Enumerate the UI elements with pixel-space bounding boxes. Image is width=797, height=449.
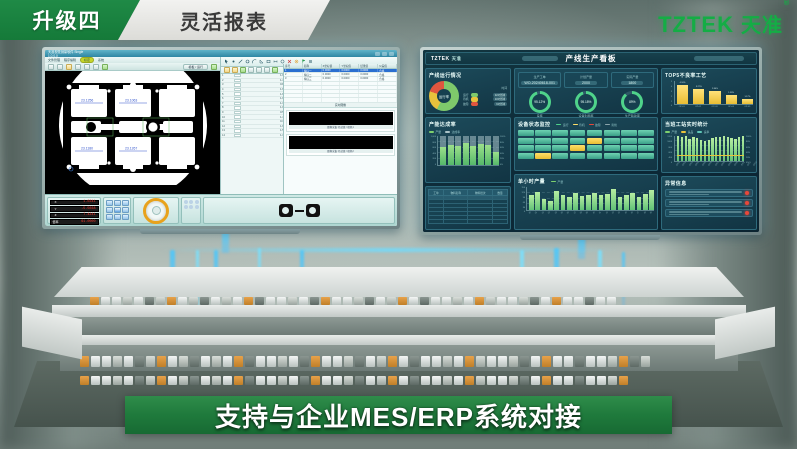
- brand-logo-cn: 天准 ®: [741, 9, 783, 38]
- factory-machine: [596, 297, 605, 305]
- legend-label: 产量: [558, 180, 564, 184]
- cursor-icon[interactable]: [48, 64, 54, 70]
- gauge-value: 95.18%: [575, 91, 597, 113]
- station-legend-item: 良品: [681, 130, 693, 134]
- chart-bar-stack: [485, 136, 491, 165]
- factory-machine: [222, 297, 231, 305]
- device-cell[interactable]: [518, 153, 534, 159]
- factory-machine: [498, 356, 507, 367]
- axis-tick: 400: [664, 157, 672, 159]
- device-cell[interactable]: [518, 145, 534, 151]
- pointer-icon[interactable]: [224, 59, 229, 64]
- jog-wheel-box[interactable]: [133, 197, 179, 224]
- viewer-mode-button[interactable]: 模板 / 运行: [183, 64, 208, 70]
- table-cell: [340, 86, 359, 89]
- table-cell: 0.0000: [322, 73, 341, 76]
- axis-tick: 3: [664, 91, 672, 93]
- factory-machine: [597, 356, 606, 367]
- factory-machine: [553, 356, 562, 367]
- factory-machine: [322, 356, 331, 367]
- alarm-text: [669, 191, 742, 195]
- coordinate-row: 倍率61.0000: [50, 219, 99, 225]
- factory-machine: [146, 376, 155, 385]
- dashboard-body: 产线运行情况 运行率 时间 运行320分钟待机100分钟故障60分钟: [425, 65, 757, 230]
- device-cell[interactable]: [604, 130, 620, 136]
- factory-machine: [464, 297, 473, 305]
- chart-bar: [592, 193, 597, 210]
- jog-buttons[interactable]: [106, 200, 129, 220]
- axis-tick: 80%: [746, 141, 754, 143]
- chart-bar-stack: [455, 136, 461, 165]
- device-cell[interactable]: [587, 153, 603, 159]
- table-row[interactable]: [429, 220, 508, 224]
- factory-machine: [156, 297, 165, 305]
- chart-bar-segment-output: [493, 152, 499, 165]
- axis-label: ST13: [754, 161, 759, 166]
- device-cell[interactable]: [638, 153, 654, 159]
- jog-wheel-center[interactable]: [152, 206, 161, 215]
- jog-down-right[interactable]: [122, 214, 129, 220]
- alarm-text: [669, 211, 742, 215]
- device-cell[interactable]: [552, 130, 568, 136]
- table-cell: [429, 220, 444, 224]
- device-cell[interactable]: [518, 138, 534, 144]
- factory-machine: [564, 376, 573, 385]
- factory-machine: [311, 376, 320, 385]
- factory-machine: [586, 376, 595, 385]
- device-cell[interactable]: [604, 153, 620, 159]
- device-cell[interactable]: [570, 153, 586, 159]
- axis-tick: 0: [517, 211, 525, 213]
- gauge-value: 89%: [621, 91, 643, 113]
- gauge-cell: 89%生产稼动率: [611, 91, 654, 119]
- step-icon[interactable]: [264, 67, 270, 73]
- new-icon[interactable]: [224, 67, 230, 73]
- speed-5[interactable]: [189, 205, 193, 209]
- axis-tick: 40%: [746, 152, 754, 154]
- factory-machine: [310, 297, 319, 305]
- card-capacity: 产能达成率 产量达成率 1,0008006004002000 100%80%60…: [425, 117, 511, 183]
- header-ribbon: 升级四 灵活报表: [0, 0, 330, 40]
- factory-machine: [256, 376, 265, 385]
- chart-bar: [630, 193, 635, 210]
- device-cell[interactable]: [535, 138, 551, 144]
- factory-machine: [542, 376, 551, 385]
- menu-item-3[interactable]: 系统: [98, 58, 104, 62]
- window-controls[interactable]: [375, 52, 394, 56]
- menu-item-calibration-highlighted[interactable]: 标定: [80, 57, 94, 63]
- factory-machine: [167, 297, 176, 305]
- legend-swatch: [551, 181, 556, 183]
- fit-icon[interactable]: [84, 64, 90, 70]
- legend-label: 达成率: [452, 130, 460, 134]
- factory-machine: [574, 297, 583, 305]
- chart-bar: 1.93%: [726, 95, 737, 104]
- folder-open-icon[interactable]: [66, 64, 72, 70]
- settings-icon[interactable]: [245, 59, 250, 64]
- play-icon[interactable]: [248, 67, 254, 73]
- factory-roof: [54, 267, 744, 297]
- preview-card-0[interactable]: 图像采集:已就绪 / 相机1: [286, 110, 395, 132]
- feature-index: 6: [222, 97, 232, 100]
- arc-icon[interactable]: [252, 59, 257, 64]
- speed-1[interactable]: [184, 200, 188, 204]
- device-cell[interactable]: [535, 145, 551, 151]
- factory-machine: [497, 297, 506, 305]
- svg-text:23.1180: 23.1180: [81, 147, 93, 151]
- factory-machine: [575, 356, 584, 367]
- app-titlebar: 天准视觉测量软件 Single 1.0.0.0: [45, 50, 397, 57]
- monitor-stand-left: [140, 229, 300, 234]
- device-cell[interactable]: [621, 153, 637, 159]
- dashboard-header: TZTEK天准 产线生产看板: [425, 52, 757, 65]
- top5-xlabels: OP-01OP-02OP-03OP-04OP-05: [674, 106, 753, 108]
- factory-mid-gap: [70, 317, 728, 335]
- device-cell[interactable]: [587, 130, 603, 136]
- axis-label: OP-04: [725, 106, 736, 108]
- factory-machine: [465, 376, 474, 385]
- axis-tick: 2: [664, 96, 672, 98]
- device-cell[interactable]: [604, 145, 620, 151]
- factory-machine: [91, 356, 100, 367]
- factory-machine: [90, 297, 99, 305]
- device-cell[interactable]: [638, 145, 654, 151]
- device-cell[interactable]: [552, 153, 568, 159]
- factory-machine: [178, 297, 187, 305]
- device-cell[interactable]: [638, 138, 654, 144]
- feature-index: 8: [222, 106, 232, 109]
- chart-bar-segment-output: [478, 144, 484, 165]
- speed-6[interactable]: [195, 205, 199, 209]
- card-hourly-title: 单小时产量: [518, 178, 545, 185]
- factory-machine: [113, 376, 122, 385]
- chart-bar: [730, 138, 732, 161]
- factory-machine: [135, 356, 144, 367]
- top5-chart: 543210 4.10%3.27%2.86%1.93%1.17% OP-01OP…: [665, 81, 753, 108]
- factory-machine: [344, 356, 353, 367]
- feature-thumb: [234, 83, 241, 86]
- table-cell: [322, 86, 341, 89]
- table-cell: 特征二: [303, 73, 322, 76]
- hourly-xlabels: 0001020304050607080910111213141516171819: [526, 212, 654, 214]
- chart-bar-segment-rate: [485, 136, 491, 145]
- device-cell[interactable]: [570, 145, 586, 151]
- factory-machine: [531, 356, 540, 367]
- hourly-legend: 产量: [551, 180, 563, 184]
- alarm-text-line: [669, 204, 709, 206]
- factory-machine: [553, 376, 562, 385]
- table-cell: [378, 90, 397, 93]
- axis-label: OP-05: [742, 106, 753, 108]
- chart-bar: 2.86%: [709, 91, 720, 104]
- save-icon[interactable]: [75, 64, 81, 70]
- inspection-software-monitor: 天准视觉测量软件 Single 1.0.0.0 文件管理 程序编辑 标定 系统: [42, 47, 400, 229]
- device-cell[interactable]: [604, 138, 620, 144]
- feature-thumb: [234, 134, 241, 137]
- axis-label: ST04: [696, 161, 701, 166]
- axis-tick: 1: [664, 101, 672, 103]
- chart-bar: [586, 195, 591, 210]
- table-cell: [322, 98, 341, 101]
- factory-machine: [289, 356, 298, 367]
- close-icon[interactable]: [389, 52, 394, 56]
- alarm-list[interactable]: [665, 189, 753, 217]
- factory-machine: [552, 297, 561, 305]
- chart-bar: [704, 141, 706, 161]
- save-program-icon[interactable]: [240, 67, 246, 73]
- monitor-display-left: 天准视觉测量软件 Single 1.0.0.0 文件管理 程序编辑 标定 系统: [45, 50, 397, 226]
- factory-machine: [520, 376, 529, 385]
- table-cell: 3: [284, 77, 303, 80]
- chart-bar: [624, 195, 629, 210]
- feature-index: 12: [222, 125, 232, 128]
- factory-machine: [354, 297, 363, 305]
- device-legend-item: 待机: [573, 123, 585, 127]
- dashboard-logo-cn: 天准: [452, 56, 462, 61]
- factory-machine: [420, 297, 429, 305]
- factory-machine: [630, 356, 639, 367]
- production-dashboard-monitor: TZTEK天准 产线生产看板 产线运行情况 运行率: [420, 47, 762, 235]
- device-cell[interactable]: [621, 138, 637, 144]
- chart-bar-segment-output: [448, 145, 454, 165]
- device-cell[interactable]: [587, 145, 603, 151]
- factory-machine: [519, 297, 528, 305]
- device-cell[interactable]: [570, 130, 586, 136]
- table-cell: 2: [284, 73, 303, 76]
- device-cell[interactable]: [621, 145, 637, 151]
- factory-upper-deck: [52, 305, 746, 317]
- hourly-legend-item: 产量: [551, 180, 563, 184]
- chart-rate-line: [677, 155, 744, 156]
- preview-card-1[interactable]: 图像采集:已就绪 / 相机2: [286, 134, 395, 156]
- factory-machine: [365, 297, 374, 305]
- chart-bar: [554, 191, 559, 210]
- factory-machine: [157, 356, 166, 367]
- list-item[interactable]: [665, 199, 753, 207]
- capacity-legend: 产量达成率: [429, 130, 507, 134]
- svg-text:23.1256: 23.1256: [81, 99, 93, 103]
- factory-machine: [168, 356, 177, 367]
- jog-down[interactable]: [114, 214, 121, 220]
- factory-machine: [432, 376, 441, 385]
- chart-bar: [742, 136, 744, 161]
- factory-machine: [278, 376, 287, 385]
- factory-machine: [288, 297, 297, 305]
- device-grid-wrap: [518, 130, 654, 159]
- factory-machine: [442, 297, 451, 305]
- factory-machine: [113, 356, 122, 367]
- coordinate-value: -5.5038: [61, 207, 98, 211]
- jog-down-left[interactable]: [106, 214, 113, 220]
- factory-machine: [564, 356, 573, 367]
- angle-icon[interactable]: [259, 59, 264, 64]
- motion-control-bar: X1.0241Y-5.5038Z7.4241倍率61.0000: [45, 194, 397, 226]
- feature-thumb: [234, 111, 241, 114]
- kpi-work-order: 生产工单 WO-20240618-001: [518, 72, 561, 88]
- camera-icon[interactable]: [211, 64, 217, 70]
- order-table-body[interactable]: [429, 196, 508, 224]
- stop-icon[interactable]: [256, 67, 262, 73]
- zoom-icon[interactable]: [57, 64, 63, 70]
- axis-tick: 30: [517, 207, 525, 209]
- feature-thumb: [234, 129, 241, 132]
- maximize-icon[interactable]: [382, 52, 387, 56]
- list-item[interactable]: [665, 209, 753, 217]
- jog-wheel[interactable]: [143, 198, 169, 224]
- device-cell[interactable]: [535, 153, 551, 159]
- axis-tick: 800: [428, 142, 436, 144]
- table-cell: [359, 98, 378, 101]
- factory-machine: [189, 297, 198, 305]
- axis-tick: 90: [517, 197, 525, 199]
- results-grid-body[interactable]: 1特征一0.00000.00000.0000合格2特征二0.00000.0000…: [284, 69, 397, 103]
- rect-icon[interactable]: [266, 59, 271, 64]
- device-grid[interactable]: [518, 130, 654, 159]
- factory-machine: [101, 297, 110, 305]
- legend-swatch: [445, 131, 450, 133]
- jog-up-left[interactable]: [106, 200, 113, 206]
- speed-pad[interactable]: [181, 197, 201, 224]
- factory-machine: [597, 376, 606, 385]
- factory-machine: [343, 297, 352, 305]
- factory-machine: [201, 376, 210, 385]
- jog-home[interactable]: [114, 207, 121, 213]
- axis-tick: 0: [428, 164, 436, 166]
- factory-machine: [255, 297, 264, 305]
- results-grid-col-header: 公差值: [378, 64, 397, 68]
- factory-machine: [300, 376, 309, 385]
- feature-thumb: [234, 106, 241, 109]
- chart-bar-segment-output: [455, 146, 461, 165]
- factory-machine: [520, 356, 529, 367]
- gauge-ring: 95.18%: [575, 91, 597, 113]
- jog-left[interactable]: [106, 207, 113, 213]
- table-cell: [340, 82, 359, 85]
- chart-bar-stack: [440, 136, 446, 165]
- factory-machine: [388, 356, 397, 367]
- capacity-axis-y2: 100%80%60%40%20%0%: [500, 136, 508, 166]
- speed-buttons[interactable]: [184, 200, 199, 210]
- feature-thumb: [234, 115, 241, 118]
- gauge-value: 95.12%: [529, 91, 551, 113]
- axis-tick: 150: [517, 187, 525, 189]
- axis-tick: 100%: [746, 136, 754, 138]
- chart-bar-segment-rate: [493, 136, 499, 152]
- legend-label: 良率: [704, 130, 710, 134]
- chart-bar: 1.17%: [742, 99, 753, 104]
- machine-row-upper-1: [90, 297, 616, 305]
- line-status-legend: 时间 运行320分钟待机100分钟故障60分钟: [463, 86, 507, 106]
- device-cell[interactable]: [570, 138, 586, 144]
- refresh-icon[interactable]: [272, 67, 278, 73]
- preview-image-0: [289, 112, 393, 125]
- kpi-planned-value: 2000: [575, 81, 597, 85]
- factory-machine: [299, 297, 308, 305]
- axis-label: 09: [586, 210, 591, 215]
- chart-bar: [637, 197, 642, 210]
- viewer-toolbar[interactable]: 模板 / 运行: [45, 63, 220, 71]
- feature-index: 10: [222, 116, 232, 119]
- kpi-actual-label: 实际产量: [614, 75, 651, 79]
- order-table[interactable]: 工单物料名称物料批次数量: [428, 189, 508, 224]
- production-dashboard: TZTEK天准 产线生产看板 产线运行情况 运行率: [423, 50, 759, 232]
- minimize-icon[interactable]: [375, 52, 380, 56]
- device-cell[interactable]: [587, 138, 603, 144]
- card-station: 当班工站实时统计 产量良品良率 120010008006004000 100%8…: [661, 117, 757, 173]
- dashboard-logo: TZTEK天准: [431, 56, 461, 62]
- open-icon[interactable]: [232, 67, 238, 73]
- factory-machine: [146, 356, 155, 367]
- distance-icon[interactable]: [273, 59, 278, 64]
- chart-bar: [567, 197, 572, 210]
- line-icon[interactable]: [238, 59, 243, 64]
- jog-pad[interactable]: [103, 197, 131, 224]
- axis-tick: 1000: [664, 141, 672, 143]
- table-cell: [322, 82, 341, 85]
- factory-machine: [563, 297, 572, 305]
- legend-swatch: [556, 124, 561, 126]
- jog-up[interactable]: [114, 200, 121, 206]
- device-cell[interactable]: [518, 130, 534, 136]
- brand-logo: TZTEK 天准 ®: [658, 9, 783, 38]
- factory-machine: [102, 376, 111, 385]
- results-grid-col-header: X坐标值: [322, 64, 341, 68]
- table-cell: [284, 98, 303, 101]
- speed-4[interactable]: [184, 205, 188, 209]
- svg-text:23.1267: 23.1267: [125, 147, 137, 151]
- device-monitor-head: 设备状态监控 运行待机故障离线: [518, 121, 654, 128]
- factory-machine: [80, 376, 89, 385]
- card-work-order: 生产工单 WO-20240618-001 计划产量 2000 实际产量 1800: [514, 68, 658, 114]
- factory-machine: [234, 376, 243, 385]
- factory-machine: [102, 356, 111, 367]
- jog-right[interactable]: [122, 207, 129, 213]
- device-cell[interactable]: [621, 130, 637, 136]
- chart-bar-segment-output: [463, 143, 469, 165]
- device-cell[interactable]: [638, 130, 654, 136]
- coordinate-value: 61.0000: [61, 220, 98, 224]
- brand-logo-cn-text: 天准: [741, 15, 783, 37]
- factory-machine: [223, 356, 232, 367]
- factory-machine: [211, 297, 220, 305]
- axis-tick: 600: [664, 152, 672, 154]
- table-cell: [284, 94, 303, 97]
- point-icon[interactable]: [231, 59, 236, 64]
- part-preview: [203, 197, 395, 224]
- header-tag-secondary: 灵活报表: [118, 0, 330, 40]
- list-item[interactable]: [665, 189, 753, 197]
- chart-bar-segment-rate: [440, 136, 446, 147]
- legend-swatch: [573, 124, 578, 126]
- chart-bar: [677, 136, 679, 161]
- run-icon[interactable]: [102, 64, 108, 70]
- menu-item-0[interactable]: 文件管理: [48, 58, 60, 62]
- grid-icon[interactable]: [93, 64, 99, 70]
- factory-machine: [619, 356, 628, 367]
- table-cell: [303, 90, 322, 93]
- speed-2[interactable]: [189, 200, 193, 204]
- device-cell[interactable]: [535, 130, 551, 136]
- station-chart: 120010008006004000 100%80%60%40%20%0% ST…: [665, 136, 753, 165]
- speed-3[interactable]: [195, 200, 199, 204]
- device-cell[interactable]: [552, 138, 568, 144]
- feature-index: 4: [222, 88, 232, 91]
- menu-item-1[interactable]: 程序编辑: [64, 58, 76, 62]
- jog-up-right[interactable]: [122, 200, 129, 206]
- table-cell: [284, 90, 303, 93]
- factory-machine: [124, 356, 133, 367]
- device-cell[interactable]: [552, 145, 568, 151]
